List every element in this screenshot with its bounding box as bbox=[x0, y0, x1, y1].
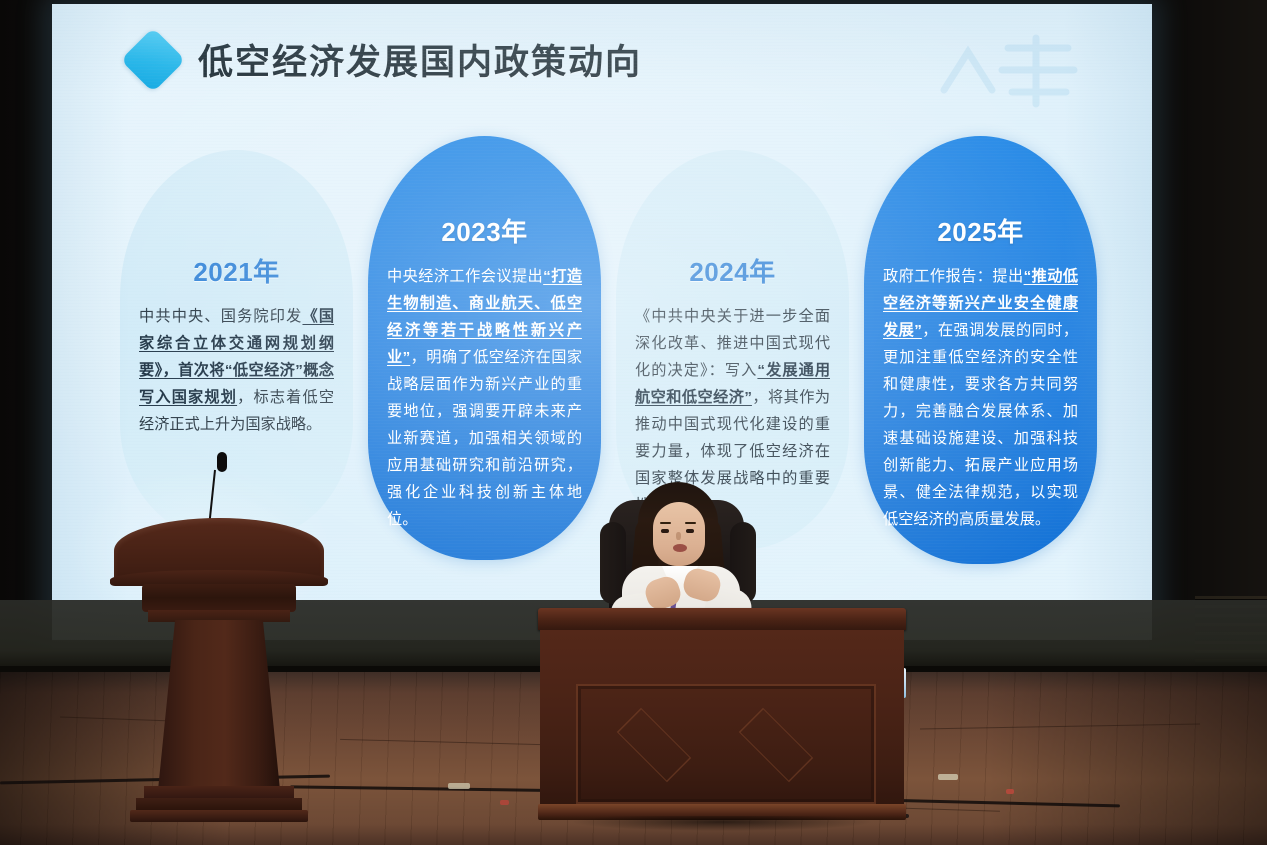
card-text-post: ，在强调发展的同时，更加注重低空经济的安全性和健康性，要求各方共同努力，完善融合… bbox=[883, 322, 1078, 528]
podium-mic-stem bbox=[209, 470, 216, 522]
desk-top-surface bbox=[538, 608, 906, 630]
card-year-label: 2023年 bbox=[387, 212, 582, 249]
card-year-label: 2024年 bbox=[635, 252, 830, 289]
presenter-eye bbox=[661, 529, 669, 533]
presenter-eyebrow bbox=[660, 522, 671, 524]
slide-title-row: 低空经济发展国内政策动向 bbox=[130, 34, 642, 85]
wooden-podium bbox=[104, 452, 334, 832]
microphone-icon bbox=[217, 452, 227, 472]
left-wall-strip bbox=[0, 0, 52, 648]
page-title: 低空经济发展国内政策动向 bbox=[198, 34, 642, 85]
card-text-pre: 中共中央、国务院印发 bbox=[139, 308, 302, 325]
floor-debris bbox=[1006, 789, 1014, 794]
card-body: 中共中央、国务院印发《国家综合立体交通网规划纲要》，首次将“低空经济”概念写入国… bbox=[139, 303, 334, 438]
card-text-pre: 中央经济工作会议提出 bbox=[387, 268, 543, 285]
lecture-hall-scene: 低空经济发展国内政策动向 2021年 中共中央、国务院印发《国家综合立体交通网规… bbox=[0, 0, 1267, 845]
podium-neck bbox=[142, 584, 296, 612]
presenter-eye bbox=[686, 529, 694, 533]
diamond-icon bbox=[120, 27, 185, 92]
presenter-desk bbox=[538, 608, 906, 834]
card-body: 政府工作报告：提出“推动低空经济等新兴产业安全健康发展”，在强调发展的同时，更加… bbox=[883, 263, 1078, 533]
presenter-eyebrow bbox=[685, 522, 696, 524]
presenter-nose bbox=[676, 532, 681, 540]
floor-debris bbox=[448, 783, 470, 789]
podium-column bbox=[158, 620, 280, 790]
card-year-label: 2021年 bbox=[139, 252, 334, 289]
desk-panel-frame bbox=[576, 684, 876, 804]
presenter-mouth bbox=[673, 544, 687, 552]
card-text-pre: 政府工作报告：提出 bbox=[883, 268, 1024, 285]
floor-debris bbox=[938, 774, 958, 780]
corner-watermark-icon bbox=[916, 18, 1116, 126]
desk-front-panel bbox=[540, 630, 904, 814]
podium-base bbox=[130, 810, 308, 822]
card-year-label: 2025年 bbox=[883, 212, 1078, 249]
desk-shadow bbox=[528, 816, 916, 834]
floor-debris bbox=[500, 800, 509, 805]
